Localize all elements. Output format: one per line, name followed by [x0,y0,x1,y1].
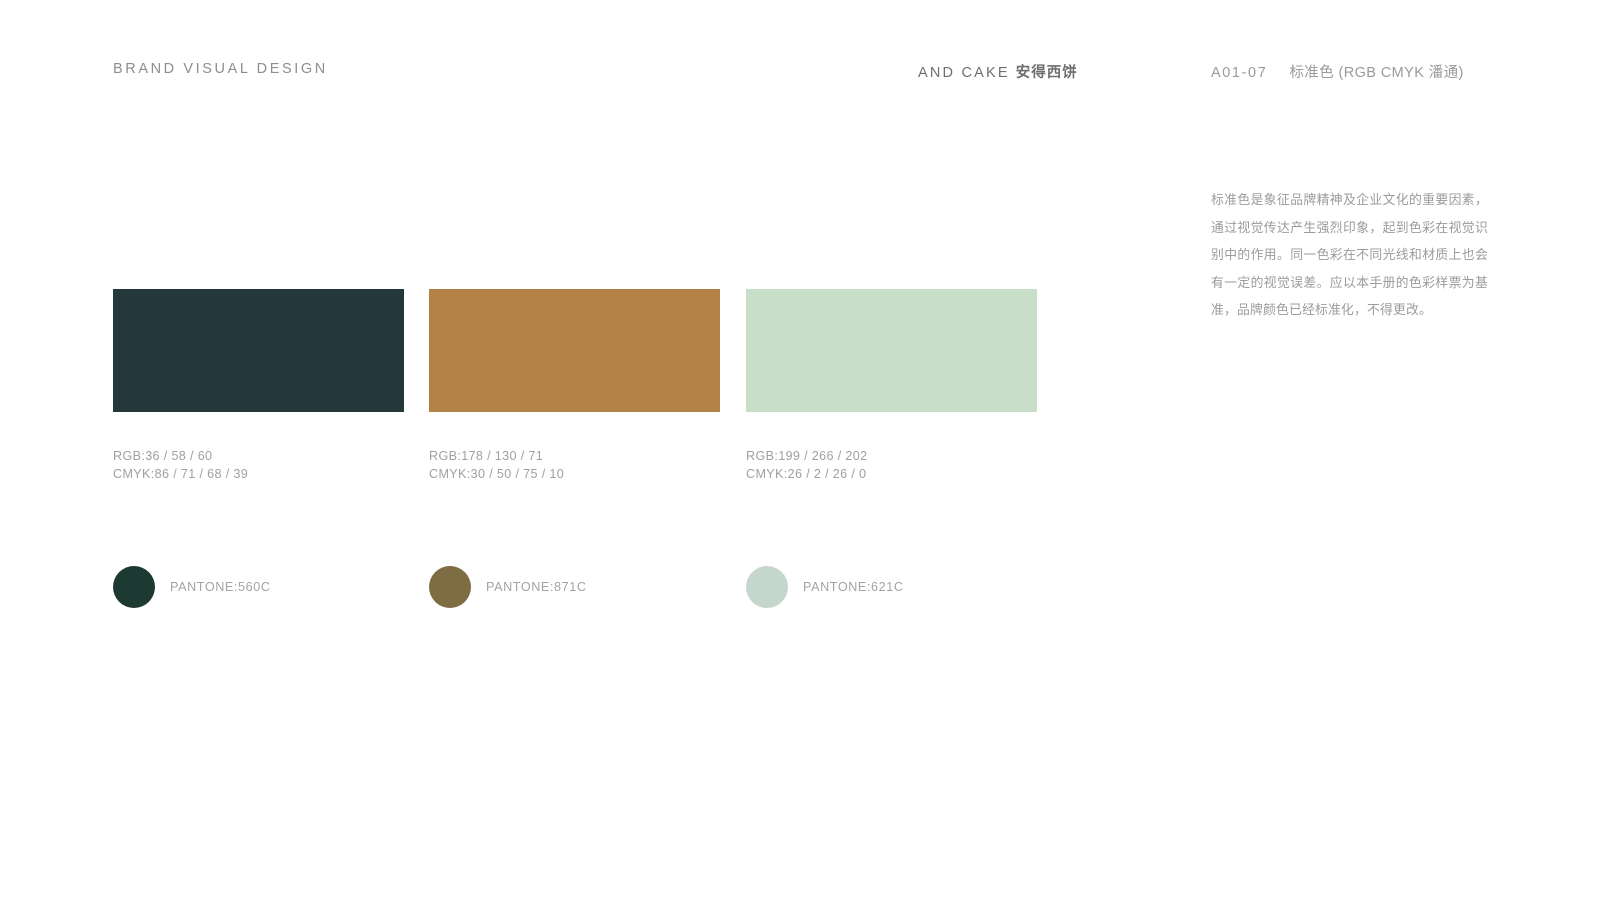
color-swatch-item: RGB:178 / 130 / 71 CMYK:30 / 50 / 75 / 1… [429,289,720,483]
cmyk-value: CMYK:30 / 50 / 75 / 10 [429,465,720,483]
color-value-block: RGB:36 / 58 / 60 CMYK:86 / 71 / 68 / 39 [113,447,404,483]
brand-name-chinese: 安得西饼 [1016,65,1078,81]
color-chip-secondary [429,289,720,412]
pantone-item: PANTONE:871C [429,566,587,608]
color-swatch-item: RGB:199 / 266 / 202 CMYK:26 / 2 / 26 / 0 [746,289,1037,483]
rgb-value: RGB:178 / 130 / 71 [429,447,720,465]
brand-name-header: AND CAKE安得西饼 [918,61,1078,82]
standard-color-description: 标准色是象征品牌精神及企业文化的重要因素，通过视觉传达产生强烈印象，起到色彩在视… [1211,186,1488,324]
color-chip-tertiary [746,289,1037,412]
pantone-item: PANTONE:560C [113,566,271,608]
page-header-right: A01-07标准色 (RGB CMYK 潘通) [1211,61,1464,82]
color-chip-primary [113,289,404,412]
pantone-item: PANTONE:621C [746,566,904,608]
page-section-title: 标准色 (RGB CMYK 潘通) [1289,65,1463,81]
page-code: A01-07 [1211,65,1267,81]
rgb-value: RGB:36 / 58 / 60 [113,447,404,465]
pantone-row: PANTONE:560C PANTONE:871C PANTONE:621C [113,566,1113,610]
rgb-value: RGB:199 / 266 / 202 [746,447,1037,465]
pantone-swatch-circle-icon [746,566,788,608]
pantone-label: PANTONE:621C [803,580,904,594]
cmyk-value: CMYK:86 / 71 / 68 / 39 [113,465,404,483]
color-value-block: RGB:199 / 266 / 202 CMYK:26 / 2 / 26 / 0 [746,447,1037,483]
cmyk-value: CMYK:26 / 2 / 26 / 0 [746,465,1037,483]
page-header-left-title: BRAND VISUAL DESIGN [113,61,328,77]
pantone-label: PANTONE:871C [486,580,587,594]
pantone-swatch-circle-icon [113,566,155,608]
pantone-label: PANTONE:560C [170,580,271,594]
color-value-block: RGB:178 / 130 / 71 CMYK:30 / 50 / 75 / 1… [429,447,720,483]
brand-name-latin: AND CAKE [918,65,1010,81]
pantone-swatch-circle-icon [429,566,471,608]
color-swatch-item: RGB:36 / 58 / 60 CMYK:86 / 71 / 68 / 39 [113,289,404,483]
